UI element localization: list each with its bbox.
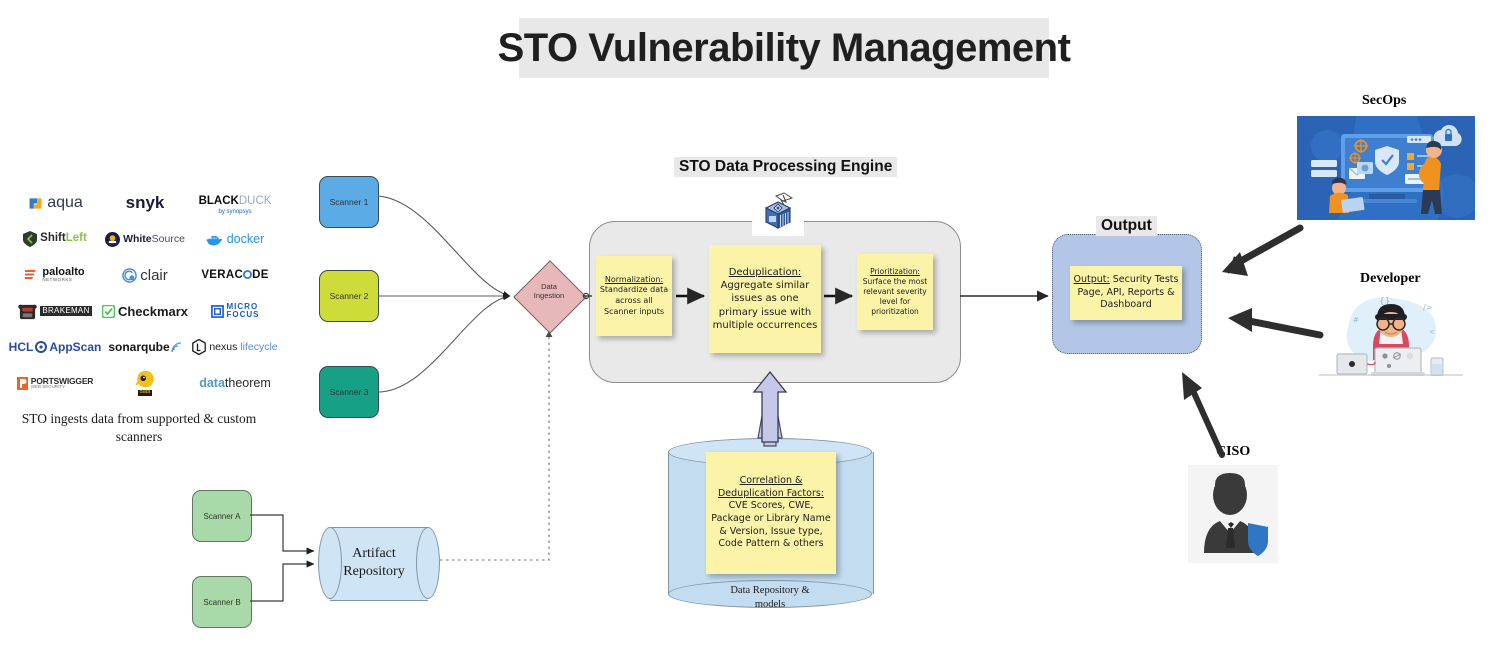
aqua-icon <box>27 195 44 212</box>
checkmarx-icon <box>102 305 115 318</box>
logo-datatheorem: datatheorem <box>191 365 279 401</box>
micro-focus-icon <box>211 305 224 318</box>
whitesource-icon <box>105 232 120 247</box>
scanner-a-box[interactable]: Scanner A <box>192 490 252 542</box>
logo-black-duck-sub: by synopsys <box>218 209 251 215</box>
logo-hcl-appscan-text2: AppScan <box>49 341 101 353</box>
logo-sonarqube: sonarqube <box>101 329 189 365</box>
logo-docker: docker <box>191 221 279 257</box>
data-ingestion-node[interactable]: Data Ingestion <box>514 261 584 331</box>
logo-nexus-text: nexus <box>209 341 237 353</box>
processing-cube-icon <box>752 192 804 236</box>
note-output-line1: Output: Security Tests <box>1074 274 1179 287</box>
note-prioritization: Prioritization: Surface the most relevan… <box>857 254 933 330</box>
logo-checkmarx: Checkmarx <box>101 293 189 329</box>
note-correlation-factors: Correlation & Deduplication Factors: CVE… <box>706 452 836 574</box>
scanner-ingest-caption: STO ingests data from supported & custom… <box>10 410 268 446</box>
note-output: Output: Security Tests Page, API, Report… <box>1070 266 1182 320</box>
logo-portswigger: PORTSWIGGER WEB SECURITY <box>11 365 99 401</box>
logo-veracode-text: VERAC <box>201 269 243 281</box>
svg-text:#: # <box>1353 316 1359 324</box>
note-deduplication: Deduplication: Aggregate similar issues … <box>709 245 821 353</box>
diagram-canvas: STO Vulnerability Management aqua snyk <box>0 0 1494 664</box>
svg-text:<: < <box>1429 328 1435 336</box>
ciso-illustration <box>1188 465 1278 563</box>
scanner-b-box[interactable]: Scanner B <box>192 576 252 628</box>
scanner-vendor-logos: aqua snyk BLACKDUCK by synopsys <box>10 185 280 410</box>
data-repository-label: Data Repository & models <box>668 584 872 611</box>
logo-hcl-appscan-text: HCL <box>9 341 34 353</box>
logo-micro-focus: MICRO FOCUS <box>191 293 279 329</box>
logo-whitesource-text2: Source <box>152 233 185 245</box>
logo-clair-text: clair <box>140 268 168 283</box>
veracode-o-icon <box>243 270 252 279</box>
scanner-2-box[interactable]: Scanner 2 <box>319 270 379 322</box>
portswigger-icon <box>17 377 28 390</box>
page-title: STO Vulnerability Management <box>519 18 1049 78</box>
sonarqube-waves-icon <box>171 341 182 353</box>
logo-shiftleft-text2: Left <box>66 232 87 244</box>
scanner-3-box[interactable]: Scanner 3 <box>319 366 379 418</box>
logo-hcl-appscan: HCL AppScan <box>11 329 99 365</box>
secops-illustration <box>1297 116 1475 220</box>
logo-micro-focus-text2: FOCUS <box>227 311 260 319</box>
hcl-ring-icon <box>35 341 47 353</box>
logo-paloalto: paloalto NETWORKS <box>11 257 99 293</box>
logo-black-duck: BLACKDUCK by synopsys <box>191 185 279 221</box>
scanner-1-box[interactable]: Scanner 1 <box>319 176 379 228</box>
engine-title: STO Data Processing Engine <box>674 157 897 177</box>
logo-black-duck-text2: DUCK <box>239 195 272 207</box>
nexus-icon <box>192 339 206 355</box>
shiftleft-icon <box>23 231 37 247</box>
logo-checkmarx-text: Checkmarx <box>118 305 188 318</box>
artifact-repository-cylinder: Artifact Repository <box>318 527 440 599</box>
logo-paloalto-sub: NETWORKS <box>42 278 84 283</box>
secops-label: SecOps <box>1362 93 1406 109</box>
logo-whitesource-text: White <box>123 233 152 245</box>
logo-nexus-lifecycle: nexus lifecycle <box>191 329 279 365</box>
logo-datatheorem-text: data <box>199 376 225 390</box>
logo-shiftleft-text: Shift <box>40 232 66 244</box>
logo-nexus-text2: lifecycle <box>240 341 277 353</box>
developer-illustration: {} /> # < <box>1319 288 1463 376</box>
developer-label: Developer <box>1360 271 1421 287</box>
logo-clair: clair <box>101 257 189 293</box>
logo-datatheorem-text2: theorem <box>225 376 271 390</box>
logo-sonarqube-text2: qube <box>141 340 170 354</box>
data-ingestion-label: Data Ingestion <box>514 282 584 301</box>
logo-snyk: snyk <box>101 185 189 221</box>
logo-veracode: VERACDE <box>191 257 279 293</box>
paloalto-icon <box>25 269 39 281</box>
note-normalization: Normalization: Standardize data across a… <box>596 256 672 336</box>
logo-bandit-text: data <box>138 390 153 396</box>
logo-sonarqube-text: sonar <box>108 340 141 354</box>
svg-text:/>: /> <box>1423 303 1432 312</box>
output-title: Output <box>1096 216 1157 236</box>
logo-docker-text: docker <box>227 233 265 246</box>
docker-icon <box>206 233 224 246</box>
logo-portswigger-sub: WEB SECURITY <box>31 385 94 390</box>
logo-brakeman-text: BRAKEMAN <box>40 306 91 316</box>
logo-veracode-text2: DE <box>252 269 269 281</box>
artifact-repository-label: Artifact Repository <box>324 545 424 581</box>
logo-shiftleft: ShiftLeft <box>11 221 99 257</box>
logo-aqua: aqua <box>11 185 99 221</box>
logo-aqua-text: aqua <box>47 195 83 211</box>
logo-brakeman: BRAKEMAN <box>11 293 99 329</box>
logo-whitesource: WhiteSource <box>101 221 189 257</box>
logo-snyk-text: snyk <box>126 193 165 213</box>
ciso-label: CISO <box>1216 444 1250 460</box>
clair-icon <box>122 268 137 283</box>
brakeman-icon <box>18 301 37 322</box>
logo-black-duck-text: BLACK <box>199 195 239 207</box>
logo-bandit: data <box>101 365 189 401</box>
